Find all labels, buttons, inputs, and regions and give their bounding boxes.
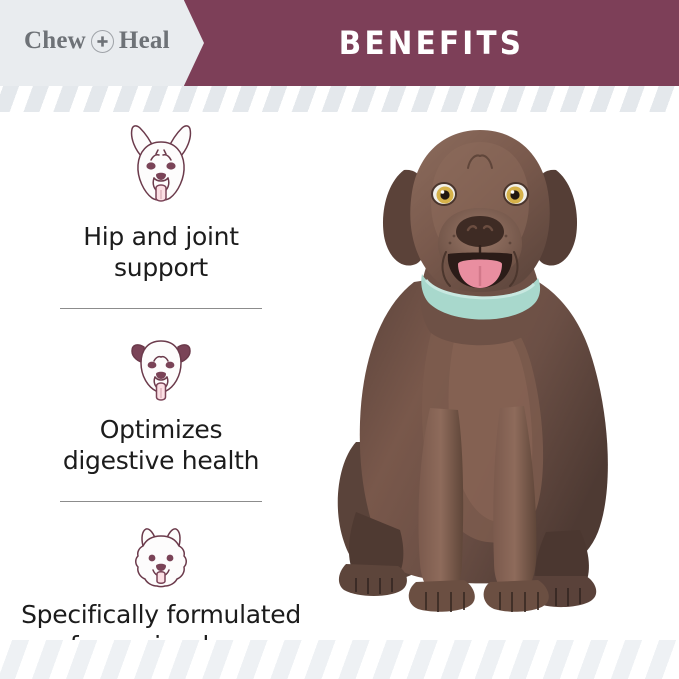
brand-name-first: Chew xyxy=(24,28,86,53)
page-title: BENEFITS xyxy=(204,0,659,86)
benefit-line-2: support xyxy=(10,253,312,284)
benefit-text-digestive-health: Optimizes digestive health xyxy=(0,415,322,476)
benefit-line-2: digestive health xyxy=(10,446,312,477)
corgi-dog-face-icon xyxy=(0,120,322,208)
brand-name-second: Heal xyxy=(119,28,170,53)
benefit-line-1: Optimizes xyxy=(10,415,312,446)
header-bar: Chew Heal BENEFITS xyxy=(0,0,679,86)
labrador-dog-photo xyxy=(318,112,668,612)
benefit-text-hip-and-joint: Hip and joint support xyxy=(0,222,322,283)
product-benefits-image: Chew Heal BENEFITS xyxy=(0,0,679,679)
diagonal-stripe-band-top xyxy=(0,86,679,112)
benefit-item-digestive-health: Optimizes digestive health xyxy=(0,331,322,502)
terrier-dog-face-icon xyxy=(0,331,322,403)
benefit-divider-1 xyxy=(60,308,262,309)
benefit-line-1: Hip and joint xyxy=(10,222,312,253)
benefits-list: Hip and joint support xyxy=(0,120,322,661)
diagonal-stripe-band-bottom xyxy=(0,640,679,679)
spitz-dog-face-icon xyxy=(0,524,322,590)
brand-logo: Chew Heal xyxy=(24,28,170,53)
plus-circle-icon xyxy=(91,30,114,53)
benefit-line-1: Specifically formulated xyxy=(10,600,312,631)
benefit-item-hip-and-joint: Hip and joint support xyxy=(0,120,322,309)
benefit-divider-2 xyxy=(60,501,262,502)
